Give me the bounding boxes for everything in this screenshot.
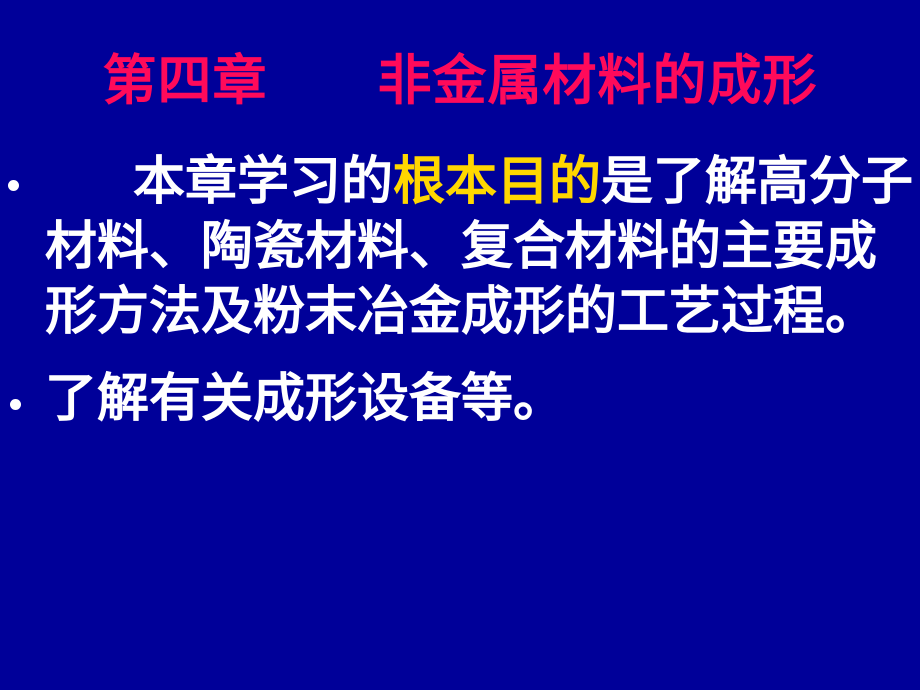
body-content: 本章学习的根本目的是了解高分子材料、陶瓷材料、复合材料的主要成形方法及粉末冶金成… [0,150,920,432]
bullet-2-segment-1: 了解有关成形设备等。 [45,369,565,429]
page-title: 第四章 非金属材料的成形 [0,48,920,114]
bullet-1-segment-1: 本章学习的 [133,152,393,212]
bullet-dot-icon [8,180,19,191]
bullet-dot-icon [10,399,21,410]
slide-canvas: 第四章 非金属材料的成形 本章学习的根本目的是了解高分子材料、陶瓷材料、复合材料… [0,0,920,690]
bullet-item-1: 本章学习的根本目的是了解高分子材料、陶瓷材料、复合材料的主要成形方法及粉末冶金成… [0,150,920,345]
bullet-1-highlight: 根本目的 [393,152,601,212]
bullet-item-2: 了解有关成形设备等。 [0,367,920,432]
